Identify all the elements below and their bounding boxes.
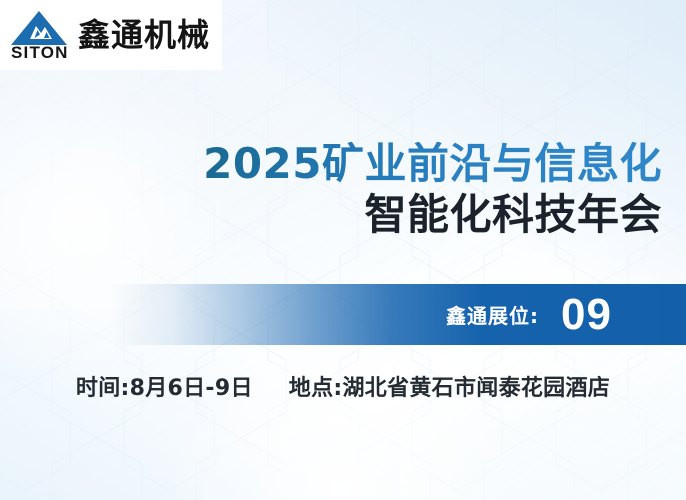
title-line-1: 2025矿业前沿与信息化 — [0, 142, 662, 187]
poster-title: 2025矿业前沿与信息化 智能化科技年会 — [0, 142, 662, 238]
conference-poster: SITON 鑫通机械 2025矿业前沿与信息化 智能化科技年会 鑫通展位: 09… — [0, 0, 686, 500]
booth-number-bar: 鑫通展位: 09 — [0, 284, 686, 345]
booth-label: 鑫通展位: — [446, 300, 539, 329]
event-location: 地点:湖北省黄石市闻泰花园酒店 — [289, 370, 610, 402]
siton-mountain-icon: SITON — [8, 8, 70, 62]
event-time: 时间:8月6日-9日 — [76, 370, 253, 402]
title-line-2: 智能化科技年会 — [0, 191, 662, 238]
background-tints — [0, 0, 686, 500]
company-logo: SITON 鑫通机械 — [0, 0, 222, 70]
logo-chinese-text: 鑫通机械 — [78, 19, 210, 51]
event-info-line: 时间:8月6日-9日 地点:湖北省黄石市闻泰花园酒店 — [0, 370, 686, 402]
logo-latin-text: SITON — [11, 44, 69, 61]
hexagon-pattern-background — [0, 0, 686, 500]
booth-number: 09 — [561, 293, 612, 337]
